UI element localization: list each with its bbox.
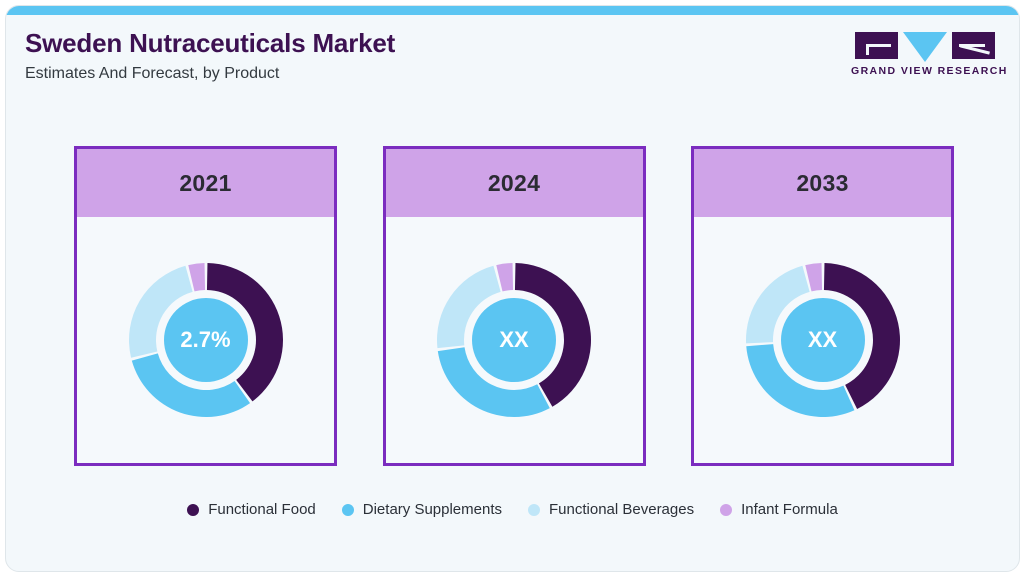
legend-dot-icon [187, 504, 199, 516]
header: Sweden Nutraceuticals Market Estimates A… [6, 15, 1019, 111]
donut-chart: XX [744, 261, 902, 419]
legend-item-functional-beverages: Functional Beverages [528, 501, 694, 518]
donut-chart: 2.7% [127, 261, 285, 419]
logo-v-triangle-icon [903, 32, 947, 62]
donut-svg [127, 261, 285, 419]
card-body: XX [386, 217, 643, 463]
legend-label: Infant Formula [741, 501, 838, 518]
card-header: 2033 [694, 149, 951, 217]
page-subtitle: Estimates And Forecast, by Product [25, 63, 395, 84]
legend: Functional Food Dietary Supplements Func… [6, 501, 1019, 518]
legend-item-functional-food: Functional Food [187, 501, 316, 518]
card-year-label: 2033 [796, 170, 848, 197]
infographic-page: Sweden Nutraceuticals Market Estimates A… [0, 0, 1025, 577]
logo-r-icon [952, 32, 995, 59]
donut-svg [435, 261, 593, 419]
title-block: Sweden Nutraceuticals Market Estimates A… [25, 27, 395, 84]
legend-label: Functional Food [208, 501, 316, 518]
content-frame: Sweden Nutraceuticals Market Estimates A… [5, 5, 1020, 572]
card-body: XX [694, 217, 951, 463]
legend-item-infant-formula: Infant Formula [720, 501, 838, 518]
logo-wordmark: GRAND VIEW RESEARCH [851, 65, 999, 77]
donut-center-circle [472, 298, 556, 382]
legend-label: Functional Beverages [549, 501, 694, 518]
top-accent-bar [6, 6, 1019, 15]
donut-card-row: 2021 2.7% 2024 XX [74, 146, 954, 466]
legend-dot-icon [528, 504, 540, 516]
card-body: 2.7% [77, 217, 334, 463]
brand-logo: GRAND VIEW RESEARCH [851, 32, 999, 77]
donut-card: 2024 XX [383, 146, 646, 466]
donut-card: 2033 XX [691, 146, 954, 466]
card-year-label: 2021 [179, 170, 231, 197]
card-header: 2024 [386, 149, 643, 217]
logo-mark-group [851, 32, 999, 60]
card-year-label: 2024 [488, 170, 540, 197]
legend-item-dietary-supplements: Dietary Supplements [342, 501, 502, 518]
donut-card: 2021 2.7% [74, 146, 337, 466]
legend-label: Dietary Supplements [363, 501, 502, 518]
donut-chart: XX [435, 261, 593, 419]
legend-dot-icon [342, 504, 354, 516]
donut-svg [744, 261, 902, 419]
donut-center-circle [781, 298, 865, 382]
card-header: 2021 [77, 149, 334, 217]
donut-center-circle [164, 298, 248, 382]
logo-g-icon [855, 32, 898, 59]
page-title: Sweden Nutraceuticals Market [25, 27, 395, 59]
legend-dot-icon [720, 504, 732, 516]
